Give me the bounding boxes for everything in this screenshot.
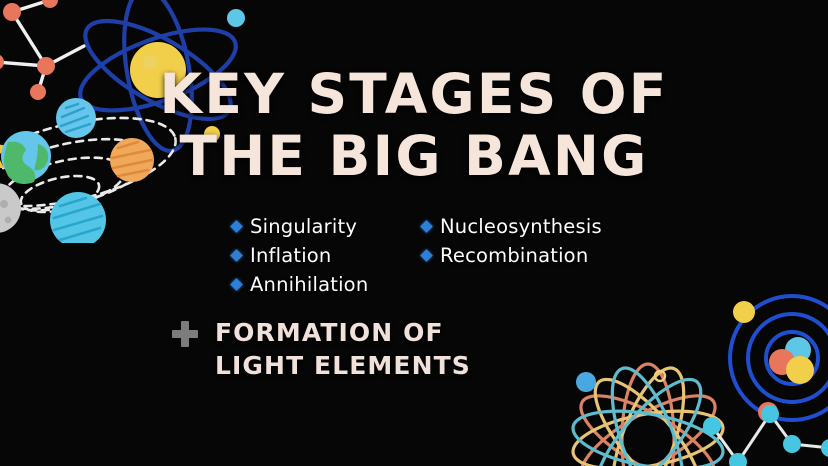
list-item-label: Annihilation: [250, 273, 368, 296]
list-item-label: Recombination: [440, 244, 588, 267]
bullet-column-left: Singularity Inflation Annihilation: [232, 212, 422, 299]
diamond-bullet-icon: [230, 220, 243, 233]
footer-highlight: Formation of Light Elements: [172, 316, 471, 382]
diamond-bullet-icon: [420, 220, 433, 233]
list-item: Recombination: [422, 241, 672, 270]
footer-text: Formation of Light Elements: [215, 316, 471, 382]
diamond-bullet-icon: [230, 278, 243, 291]
list-item-label: Nucleosynthesis: [440, 215, 602, 238]
slide-content: Key Stages of the Big Bang Singularity I…: [0, 0, 828, 466]
bullet-column-right: Nucleosynthesis Recombination: [422, 212, 672, 299]
diamond-bullet-icon: [230, 249, 243, 262]
page-title: Key Stages of the Big Bang: [0, 64, 828, 187]
slide-canvas: Key Stages of the Big Bang Singularity I…: [0, 0, 828, 466]
title-line-1: Key Stages of: [0, 64, 828, 126]
footer-line-2: Light Elements: [215, 349, 471, 382]
title-line-2: the Big Bang: [0, 126, 828, 188]
list-item-label: Singularity: [250, 215, 357, 238]
list-item: Singularity: [232, 212, 422, 241]
list-item-label: Inflation: [250, 244, 332, 267]
list-item: Annihilation: [232, 270, 422, 299]
list-item: Inflation: [232, 241, 422, 270]
plus-icon: [172, 321, 198, 347]
bullet-list: Singularity Inflation Annihilation Nucle…: [232, 212, 672, 299]
footer-line-1: Formation of: [215, 316, 471, 349]
diamond-bullet-icon: [420, 249, 433, 262]
list-item: Nucleosynthesis: [422, 212, 672, 241]
